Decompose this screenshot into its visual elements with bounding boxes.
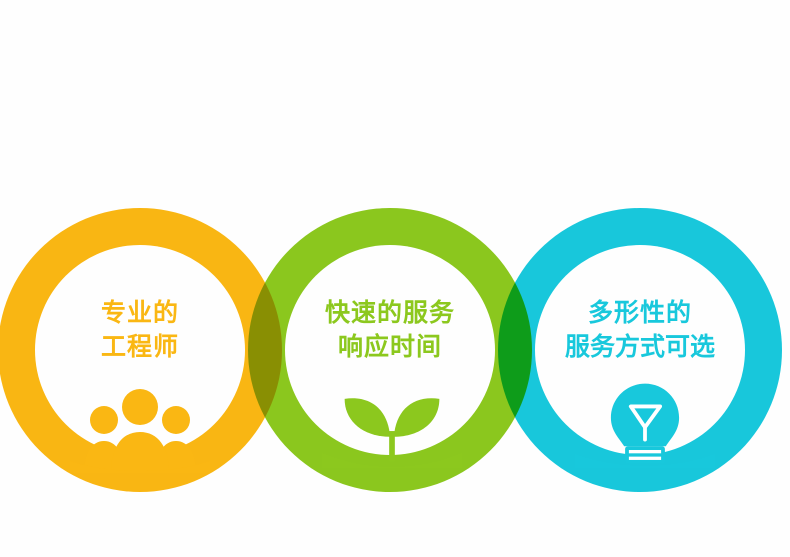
circle-label-line: 响应时间 bbox=[275, 330, 505, 364]
circle-label-line: 工程师 bbox=[25, 330, 255, 364]
venn-rings bbox=[0, 0, 790, 557]
circle-content-response-time: 快速的服务 响应时间 bbox=[275, 296, 505, 364]
sprout-leaf-icon bbox=[322, 378, 462, 468]
circle-content-service-modes: 多形性的 服务方式可选 bbox=[525, 296, 755, 364]
ring-service-modes bbox=[0, 0, 790, 557]
people-group-icon bbox=[70, 383, 210, 473]
lightbulb-icon bbox=[575, 378, 715, 468]
circle-label-line: 服务方式可选 bbox=[525, 330, 755, 364]
circle-label-response-time: 快速的服务 响应时间 bbox=[275, 296, 505, 364]
circle-label-line: 多形性的 bbox=[525, 296, 755, 330]
poster-canvas: 高效专业用心 bbox=[0, 0, 790, 557]
circle-label-line: 快速的服务 bbox=[275, 296, 505, 330]
circle-label-engineers: 专业的 工程师 bbox=[25, 296, 255, 364]
circle-label-line: 专业的 bbox=[25, 296, 255, 330]
circle-label-service-modes: 多形性的 服务方式可选 bbox=[525, 296, 755, 364]
circle-content-engineers: 专业的 工程师 bbox=[25, 296, 255, 364]
venn-diagram: 专业的 工程师 快速的服务 响应时间 bbox=[0, 0, 790, 557]
